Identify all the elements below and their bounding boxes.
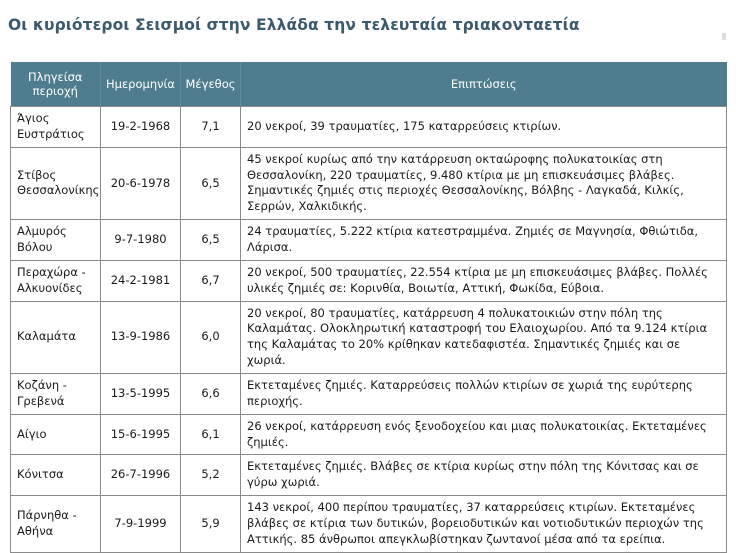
cell-effects: 143 νεκροί, 400 περίπου τραυματίες, 37 κ… (241, 496, 727, 553)
table-row[interactable]: Αλμυρός Βόλου9-7-19806,524 τραυματίες, 5… (11, 220, 727, 261)
table-row[interactable]: Πάρνηθα - Αθήνα7-9-19995,9143 νεκροί, 40… (11, 496, 727, 553)
cell-region: Στίβος Θεσσαλονίκης (11, 147, 101, 219)
cell-magnitude: 6,7 (181, 260, 241, 301)
cell-effects: 45 νεκροί κυρίως από την κατάρρευση οκτα… (241, 147, 727, 219)
cell-magnitude: 6,6 (181, 374, 241, 415)
table-header-row: Πληγείσα περιοχή Ημερομηνία Μέγεθος Επιπ… (11, 62, 727, 107)
cell-date: 9-7-1980 (101, 220, 181, 261)
table-row[interactable]: Κόνιτσα26-7-19965,2Εκτεταμένες ζημιές. Β… (11, 455, 727, 496)
cell-date: 24-2-1981 (101, 260, 181, 301)
cell-effects: 26 νεκροί, κατάρρευση ενός ξενοδοχείου κ… (241, 414, 727, 455)
cell-region: Καλαμάτα (11, 301, 101, 373)
cell-date: 13-9-1986 (101, 301, 181, 373)
cell-effects: Εκτεταμένες ζημιές. Καταρρεύσεις πολλών … (241, 374, 727, 415)
cell-effects: 20 νεκροί, 39 τραυματίες, 175 καταρρεύσε… (241, 107, 727, 148)
cell-region: Κοζάνη - Γρεβενά (11, 374, 101, 415)
page-root: Οι κυριότεροι Σεισμοί στην Ελλάδα την τε… (0, 0, 736, 522)
cell-region: Κόνιτσα (11, 455, 101, 496)
cell-region: Περαχώρα - Αλκυονίδες (11, 260, 101, 301)
cell-magnitude: 6,1 (181, 414, 241, 455)
cell-magnitude: 5,9 (181, 496, 241, 553)
cell-date: 7-9-1999 (101, 496, 181, 553)
table-header: Πληγείσα περιοχή Ημερομηνία Μέγεθος Επιπ… (11, 62, 727, 107)
table-row[interactable]: Κοζάνη - Γρεβενά13-5-19956,6Εκτεταμένες … (11, 374, 727, 415)
cell-date: 26-7-1996 (101, 455, 181, 496)
cell-date: 15-6-1995 (101, 414, 181, 455)
earthquake-table: Πληγείσα περιοχή Ημερομηνία Μέγεθος Επιπ… (10, 62, 727, 553)
table-row[interactable]: Καλαμάτα13-9-19866,020 νεκροί, 80 τραυμα… (11, 301, 727, 373)
table-body: Άγιος Ευστράτιος19-2-19687,120 νεκροί, 3… (11, 107, 727, 553)
cell-region: Πάρνηθα - Αθήνα (11, 496, 101, 553)
cell-date: 19-2-1968 (101, 107, 181, 148)
cell-magnitude: 6,5 (181, 147, 241, 219)
cell-effects: 24 τραυματίες, 5.222 κτίρια κατεστραμμέν… (241, 220, 727, 261)
cell-region: Άγιος Ευστράτιος (11, 107, 101, 148)
cell-date: 13-5-1995 (101, 374, 181, 415)
corner-artifact (722, 33, 726, 40)
cell-magnitude: 7,1 (181, 107, 241, 148)
cell-region: Αίγιο (11, 414, 101, 455)
cell-magnitude: 5,2 (181, 455, 241, 496)
column-header-effects[interactable]: Επιπτώσεις (241, 62, 727, 107)
table-row[interactable]: Στίβος Θεσσαλονίκης20-6-19786,545 νεκροί… (11, 147, 727, 219)
earthquake-table-container: Πληγείσα περιοχή Ημερομηνία Μέγεθος Επιπ… (10, 62, 726, 553)
cell-date: 20-6-1978 (101, 147, 181, 219)
column-header-date[interactable]: Ημερομηνία (101, 62, 181, 107)
column-header-region[interactable]: Πληγείσα περιοχή (11, 62, 101, 107)
page-title: Οι κυριότεροι Σεισμοί στην Ελλάδα την τε… (8, 16, 580, 34)
table-row[interactable]: Περαχώρα - Αλκυονίδες24-2-19816,720 νεκρ… (11, 260, 727, 301)
column-header-magnitude[interactable]: Μέγεθος (181, 62, 241, 107)
table-row[interactable]: Αίγιο15-6-19956,126 νεκροί, κατάρρευση ε… (11, 414, 727, 455)
cell-effects: 20 νεκροί, 80 τραυματίες, κατάρρευση 4 π… (241, 301, 727, 373)
table-row[interactable]: Άγιος Ευστράτιος19-2-19687,120 νεκροί, 3… (11, 107, 727, 148)
cell-effects: 20 νεκροί, 500 τραυματίες, 22.554 κτίρια… (241, 260, 727, 301)
cell-magnitude: 6,5 (181, 220, 241, 261)
cell-region: Αλμυρός Βόλου (11, 220, 101, 261)
cell-magnitude: 6,0 (181, 301, 241, 373)
cell-effects: Εκτεταμένες ζημιές. Βλάβες σε κτίρια κυρ… (241, 455, 727, 496)
